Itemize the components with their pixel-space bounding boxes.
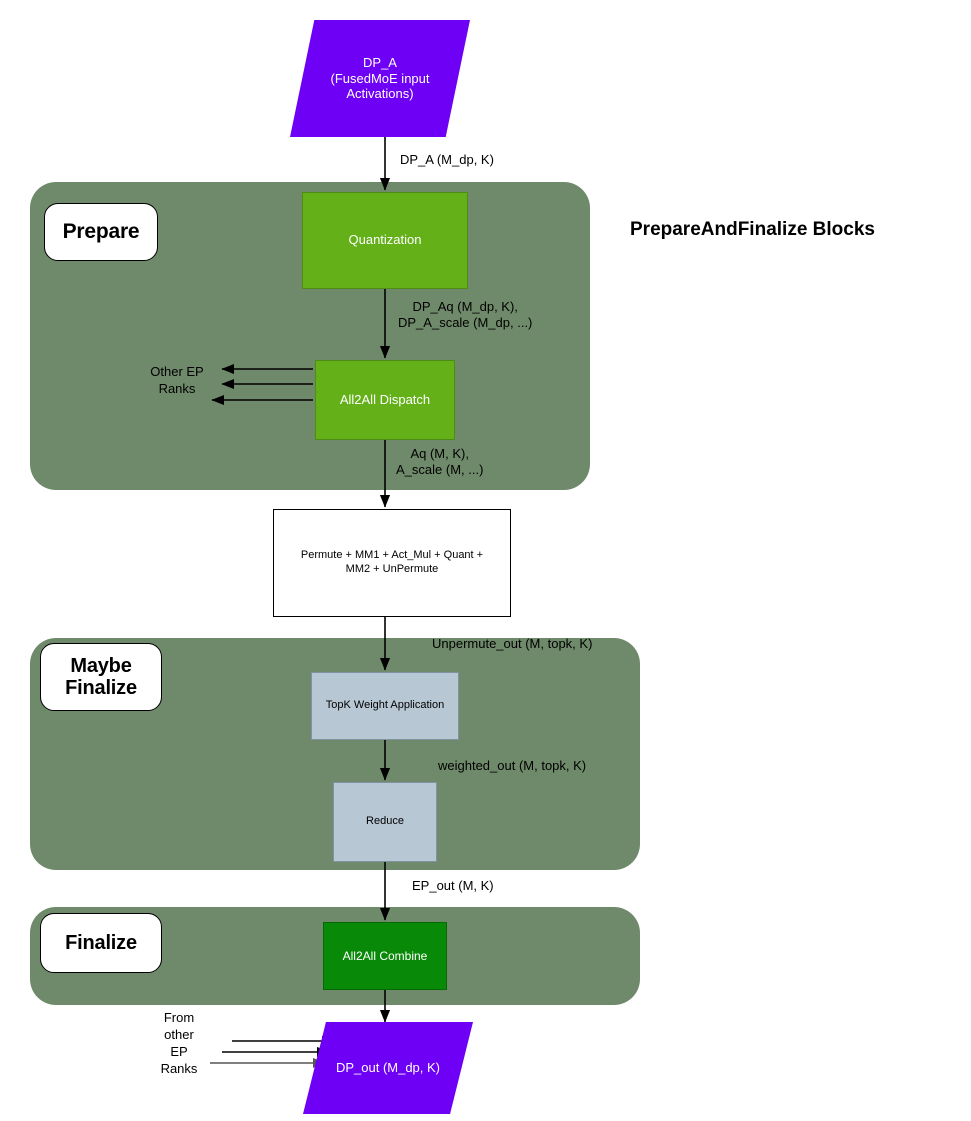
io-node-dp_out[interactable]: DP_out (M_dp, K) <box>303 1022 473 1114</box>
edge-label-dp_a_edge: DP_A (M_dp, K) <box>400 152 494 168</box>
side-label-other_ep_ranks: Other EPRanks <box>140 364 214 398</box>
group-badge-prepare: Prepare <box>44 203 158 261</box>
edge-label-ep_out_edge: EP_out (M, K) <box>412 878 494 894</box>
side-label-from_other_ep_ranks: FromotherEPRanks <box>150 1010 208 1078</box>
node-quantization[interactable]: Quantization <box>302 192 468 289</box>
node-all2all_combine[interactable]: All2All Combine <box>323 922 447 990</box>
diagram-canvas: PrepareMaybeFinalizeFinalize Quantizatio… <box>0 0 971 1121</box>
node-topk_weight_application[interactable]: TopK Weight Application <box>311 672 459 740</box>
edge-label-unpermute_out_edge: Unpermute_out (M, topk, K) <box>432 636 592 652</box>
node-expert_compute[interactable]: Permute + MM1 + Act_Mul + Quant +MM2 + U… <box>273 509 511 617</box>
io-node-dp_a_input[interactable]: DP_A(FusedMoE inputActivations) <box>290 20 470 137</box>
group-badge-maybe_finalize: MaybeFinalize <box>40 643 162 711</box>
node-reduce[interactable]: Reduce <box>333 782 437 862</box>
edge-label-dp_aq_edge: DP_Aq (M_dp, K),DP_A_scale (M_dp, ...) <box>398 299 532 332</box>
edge-label-aq_edge: Aq (M, K),A_scale (M, ...) <box>396 446 483 479</box>
page-title: PrepareAndFinalize Blocks <box>630 219 875 241</box>
node-all2all_dispatch[interactable]: All2All Dispatch <box>315 360 455 440</box>
group-badge-finalize: Finalize <box>40 913 162 973</box>
edge-label-weighted_out_edge: weighted_out (M, topk, K) <box>438 758 586 774</box>
